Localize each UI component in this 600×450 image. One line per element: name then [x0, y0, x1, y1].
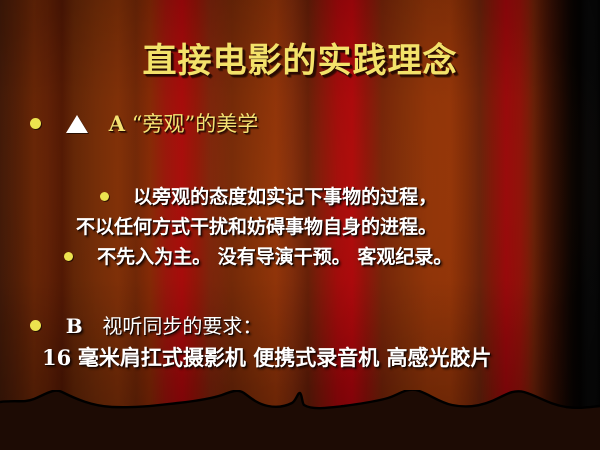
bullet-sub-a-2: 不先入为主。 没有导演干预。 客观纪录。	[64, 242, 452, 269]
sub-a-1-line1-text: 以旁观的态度如实记下事物的过程，	[133, 186, 437, 208]
section-b-marker: B	[66, 314, 83, 338]
filled-circle-bullet-icon	[64, 252, 73, 261]
bullet-section-a: A “旁观”的美学	[30, 108, 258, 138]
bullet-sub-a-1-line1: 以旁观的态度如实记下事物的过程，	[100, 182, 437, 209]
bullet-section-b: B 视听同步的要求：	[30, 310, 262, 339]
sub-a-1-line2-text: 不以任何方式干扰和妨碍事物自身的进程。	[76, 216, 437, 238]
presentation-slide: 直接电影的实践理念 A “旁观”的美学 以旁观的态度如实记下事物的过程， 不以任…	[0, 0, 600, 450]
slide-title: 直接电影的实践理念	[0, 33, 600, 82]
filled-circle-bullet-icon	[100, 192, 109, 201]
filled-circle-bullet-icon	[30, 320, 41, 331]
slide-body: A “旁观”的美学 以旁观的态度如实记下事物的过程， 不以任何方式干扰和妨碍事物…	[0, 100, 600, 400]
section-b-text: 视听同步的要求：	[102, 314, 262, 338]
sub-a-2-text: 不先入为主。 没有导演干预。 客观纪录。	[97, 246, 452, 268]
bullet-sub-a-1-line2: 不以任何方式干扰和妨碍事物自身的进程。	[76, 212, 437, 239]
filled-circle-bullet-icon	[30, 118, 41, 129]
white-triangle-icon	[66, 115, 88, 133]
bullet-section-b-equipment: 16 毫米肩扛式摄影机 便携式录音机 高感光胶片	[42, 342, 492, 372]
section-a-marker: A	[109, 111, 125, 136]
equipment-marker: 16	[42, 345, 71, 370]
equipment-text: 毫米肩扛式摄影机 便携式录音机 高感光胶片	[78, 345, 492, 370]
section-a-text: “旁观”的美学	[132, 112, 258, 136]
